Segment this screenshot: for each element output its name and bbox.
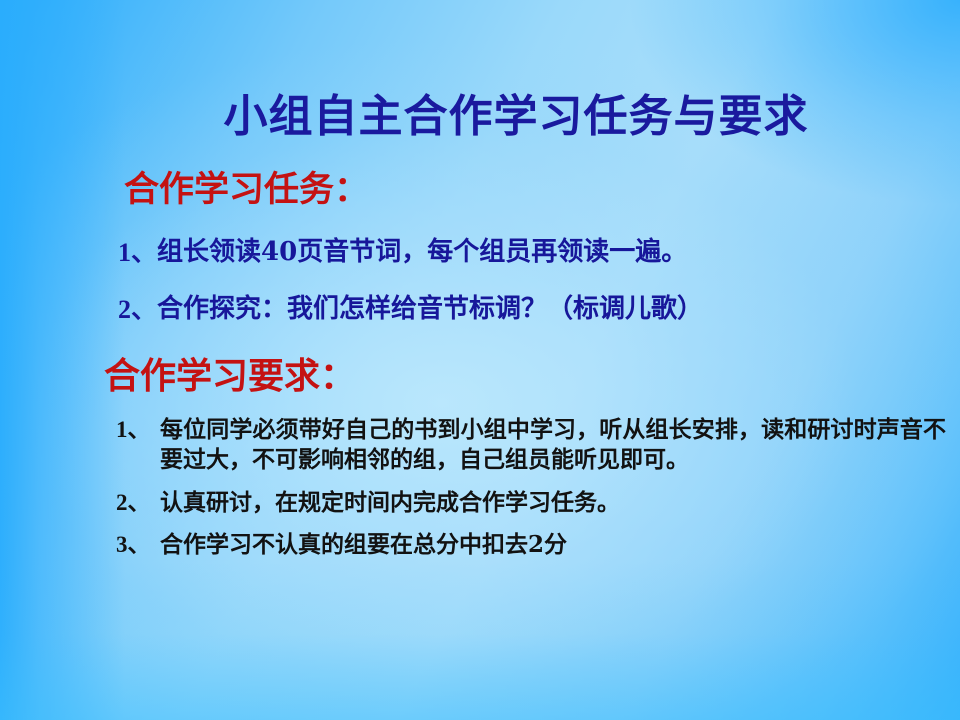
task-list: 1、 组长领读40页音节词，每个组员再领读一遍。 2、 合作探究：我们怎样给音节…	[118, 238, 938, 325]
requirement-item-text: 认真研讨，在规定时间内完成合作学习任务。	[160, 488, 946, 518]
requirement-list-item: 1、 每位同学必须带好自己的书到小组中学习，听从组长安排，读和研讨时声音不要过大…	[116, 415, 946, 476]
requirement-list: 1、 每位同学必须带好自己的书到小组中学习，听从组长安排，读和研讨时声音不要过大…	[116, 415, 946, 560]
task-item-number: 1、	[118, 238, 157, 268]
requirement-item-text: 合作学习不认真的组要在总分中扣去2分	[160, 530, 946, 560]
requirement-item-number: 3、	[116, 530, 160, 560]
task-item-text: 组长领读40页音节词，每个组员再领读一遍。	[157, 238, 687, 268]
requirement-item-text: 每位同学必须带好自己的书到小组中学习，听从组长安排，读和研讨时声音不要过大，不可…	[160, 415, 946, 476]
task-list-item: 1、 组长领读40页音节词，每个组员再领读一遍。	[118, 238, 938, 268]
slide-title: 小组自主合作学习任务与要求	[0, 94, 960, 140]
task-item-number: 2、	[118, 295, 157, 325]
slide-content: 小组自主合作学习任务与要求 合作学习任务： 1、 组长领读40页音节词，每个组员…	[0, 0, 960, 720]
requirement-list-item: 3、 合作学习不认真的组要在总分中扣去2分	[116, 530, 946, 560]
section-heading-requirement: 合作学习要求：	[104, 357, 356, 397]
requirement-item-number: 2、	[116, 488, 160, 518]
slide-canvas: 小组自主合作学习任务与要求 合作学习任务： 1、 组长领读40页音节词，每个组员…	[0, 0, 960, 720]
requirement-list-item: 2、 认真研讨，在规定时间内完成合作学习任务。	[116, 488, 946, 518]
section-heading-task: 合作学习任务：	[124, 171, 369, 210]
task-item-text: 合作探究：我们怎样给音节标调？（标调儿歌）	[157, 295, 703, 325]
task-list-item: 2、 合作探究：我们怎样给音节标调？（标调儿歌）	[118, 295, 938, 325]
requirement-item-number: 1、	[116, 415, 160, 445]
